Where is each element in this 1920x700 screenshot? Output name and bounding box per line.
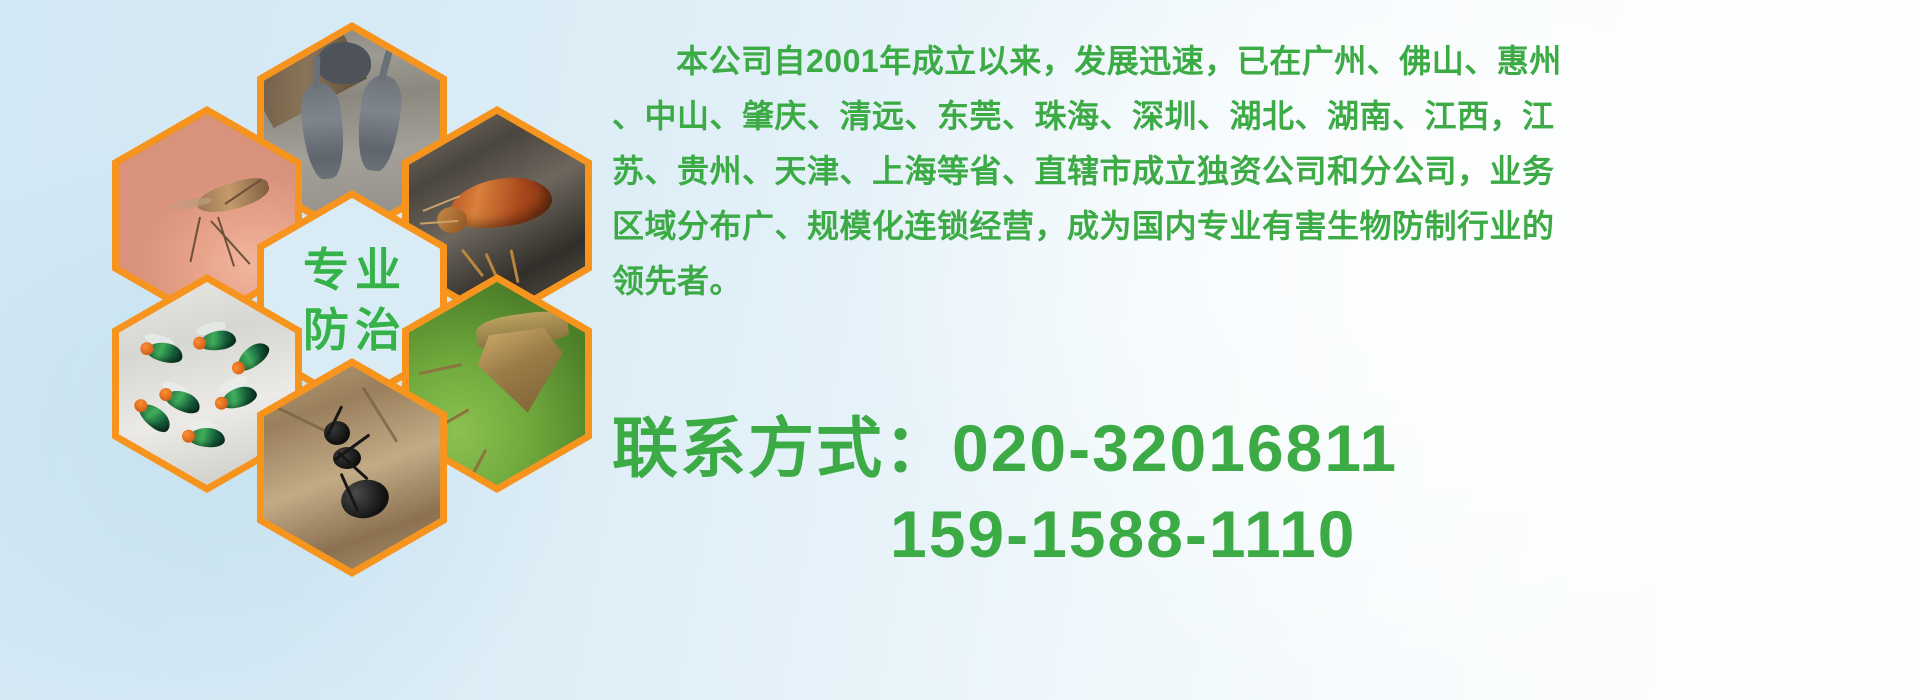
phone-primary[interactable]: 020-32016811 (952, 411, 1398, 485)
paragraph-line: 苏、贵州、天津、上海等省、直辖市成立独资公司和分公司，业务 (612, 144, 1852, 199)
leg-shape (510, 249, 520, 283)
paragraph-line: 本公司自2001年成立以来，发展迅速，已在广州、佛山、惠州 (612, 34, 1852, 89)
contact-primary-line: 联系方式：020-32016811 (612, 405, 1872, 491)
honeycomb-gallery: 专业 防治 (60, 0, 620, 700)
fly-shape (233, 338, 273, 375)
leg-shape (461, 249, 484, 278)
leg-shape (217, 216, 235, 266)
rat-shape (298, 81, 348, 181)
fly-shape (146, 339, 185, 365)
leg-shape (189, 216, 201, 261)
promo-banner: 专业 防治 (0, 0, 1920, 700)
slogan-line-1: 专业 (297, 247, 407, 293)
contact-block: 联系方式：020-32016811 159-1588-1110 (612, 405, 1872, 577)
paragraph-block: 本公司自2001年成立以来，发展迅速，已在广州、佛山、惠州 、中山、肇庆、清远、… (612, 34, 1852, 309)
fly-shape (189, 427, 226, 448)
debris-shape (317, 42, 371, 84)
phone-secondary[interactable]: 159-1588-1110 (612, 491, 1872, 577)
leg-shape (418, 363, 462, 375)
company-description: 本公司自2001年成立以来，发展迅速，已在广州、佛山、惠州 、中山、肇庆、清远、… (612, 34, 1852, 309)
rat-shape (353, 73, 404, 173)
paragraph-line: 领先者。 (612, 254, 1852, 309)
hex-inner (264, 366, 440, 569)
paragraph-line: 、中山、肇庆、清远、东莞、珠海、深圳、湖北、湖南、江西，江 (612, 89, 1852, 144)
slogan-line-2: 防治 (297, 307, 407, 353)
paragraph-line: 区域分布广、规模化连锁经营，成为国内专业有害生物防制行业的 (612, 199, 1852, 254)
ant-photo (264, 366, 440, 569)
contact-label: 联系方式： (612, 411, 952, 485)
leg-shape (466, 449, 487, 485)
